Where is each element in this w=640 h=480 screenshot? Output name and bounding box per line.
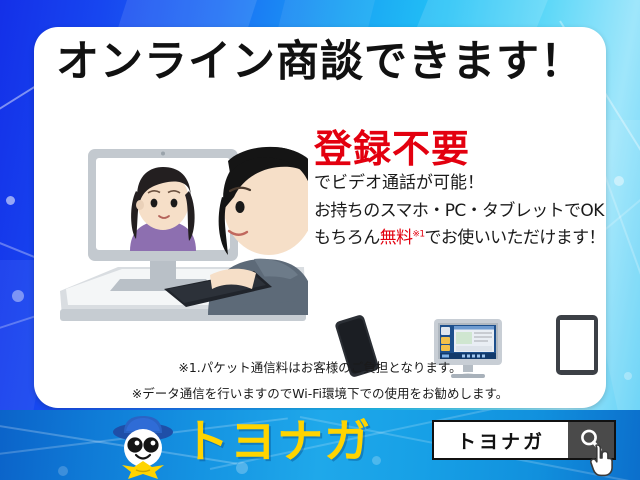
tagline: 登録不要 (314, 129, 604, 170)
footnote-2: ※データ通信を行いますのでWi-Fi環境下での使用をお勧めします。 (34, 383, 606, 402)
free-highlight: 無料 (380, 228, 413, 248)
copy-line-3-prefix: もちろん (314, 228, 380, 248)
content-card: オンライン商談できます！ (34, 27, 606, 408)
promo-banner-image: オンライン商談できます！ (0, 0, 640, 480)
copy-line-1: でビデオ通話が可能！ (314, 170, 604, 198)
footnote-marker: ※1 (412, 229, 424, 239)
brand-wordmark: トヨナガ (183, 418, 371, 464)
copy-block: 登録不要 でビデオ通話が可能！ お持ちのスマホ・PC・タブレットでOK もちろん… (314, 129, 604, 253)
toyonaga-mascot (112, 415, 174, 479)
hand-pointer-icon (588, 443, 618, 477)
copy-line-3: もちろん無料※1でお使いいただけます！ (314, 225, 604, 253)
video-call-illustration (58, 139, 308, 339)
page-title: オンライン商談できます！ (34, 41, 606, 84)
footnote-1: ※1.パケット通信料はお客様のご負担となります。 (34, 357, 606, 376)
search-input[interactable]: トヨナガ (434, 422, 568, 458)
copy-line-3-suffix: でお使いいただけます！ (425, 228, 605, 248)
copy-line-2: お持ちのスマホ・PC・タブレットでOK (314, 198, 604, 226)
